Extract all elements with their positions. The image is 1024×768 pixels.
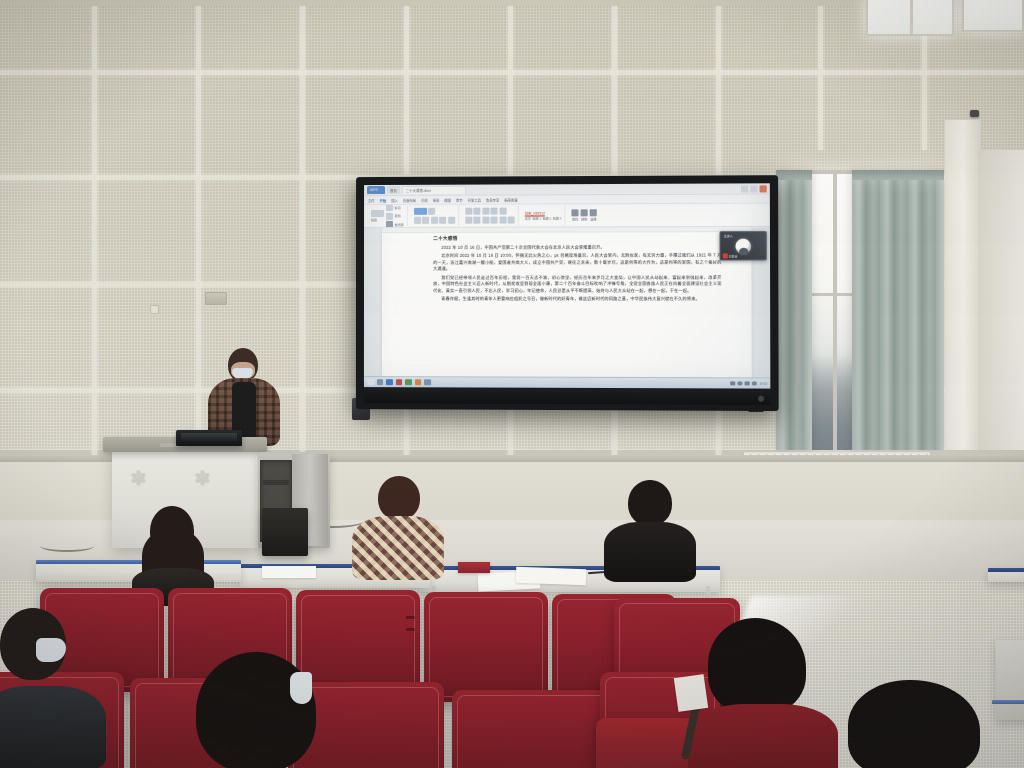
led-display[interactable]: WPS 首页 二十大感悟.docx 文件 开始 插入 页面布局 引用 审阅 (356, 175, 779, 411)
curtain-left (776, 170, 812, 450)
os-taskbar[interactable]: 10:02 (364, 376, 770, 389)
maximize-icon[interactable] (750, 185, 757, 192)
align-right-icon[interactable] (482, 216, 489, 223)
attendee-head (628, 480, 672, 526)
lectern-decoration (194, 470, 210, 486)
document-heading: 二十大感悟 (433, 235, 721, 242)
app-tab-document[interactable]: 二十大感悟.docx (402, 186, 466, 194)
ribbon-group-font[interactable] (411, 206, 459, 226)
bold-icon[interactable] (414, 217, 421, 224)
taskbar-clock[interactable]: 10:02 (759, 381, 767, 385)
floor-speaker (262, 508, 308, 556)
window-mullion (910, 0, 913, 34)
close-icon[interactable] (760, 185, 767, 192)
attendee-7 (848, 680, 996, 768)
cut-label: 剪切 (395, 205, 401, 209)
ribbon-tab-view[interactable]: 视图 (444, 197, 451, 202)
ribbon-tab-file[interactable]: 文件 (368, 198, 375, 203)
ribbon-group-paragraph[interactable] (462, 205, 519, 225)
start-button-icon[interactable] (367, 379, 374, 386)
side-desk (996, 640, 1024, 720)
ribbon-tab-insert[interactable]: 插入 (391, 197, 398, 202)
lecture-hall-photo: WPS 首页 二十大感悟.docx 文件 开始 插入 页面布局 引用 审阅 (0, 0, 1024, 768)
bullets-icon[interactable] (465, 208, 472, 215)
face-mask (290, 672, 312, 704)
font-size-dropdown[interactable] (428, 208, 435, 215)
clerestory-window (962, 0, 1024, 32)
av-mixer (263, 468, 289, 475)
attendee-jacket (604, 522, 696, 582)
ribbon-toolbar[interactable]: 粘贴 剪切 复制 格式刷 (364, 204, 770, 228)
document-page[interactable]: 二十大感悟 2022 年 10 月 16 日，中国共产党第二十次全国代表大会在北… (382, 227, 752, 377)
desk-edge-trim (988, 568, 1024, 572)
clerestory-window (866, 0, 954, 36)
select-label: 选择 (590, 218, 596, 222)
style-h2-label[interactable]: 标题 2 (543, 217, 552, 221)
titlebar-spacer (468, 189, 739, 190)
panel-joint (818, 0, 823, 150)
replace-label: 替换 (581, 218, 587, 222)
attendee-2 (352, 476, 444, 580)
attendee-head (848, 680, 980, 768)
style-body-label[interactable]: 正文 (525, 217, 531, 221)
seat-vent (406, 616, 415, 619)
lectern-decoration (130, 470, 146, 486)
attendee-6 (702, 618, 830, 768)
find-label: 查找 (572, 218, 578, 222)
handheld-paper (674, 674, 708, 712)
format-painter-icon[interactable] (386, 221, 393, 228)
lectern-laptop[interactable] (176, 430, 242, 446)
align-center-icon[interactable] (473, 216, 480, 223)
select-icon[interactable] (590, 209, 597, 216)
attendee-head (378, 476, 420, 520)
seat-piping (457, 695, 619, 768)
shading-icon[interactable] (508, 216, 515, 223)
desk-paper (262, 566, 316, 578)
auditorium-seat[interactable] (424, 592, 548, 702)
attendee-sweater (352, 516, 444, 580)
justify-icon[interactable] (490, 216, 497, 223)
wall-vent (205, 292, 227, 305)
network-icon[interactable] (731, 381, 736, 386)
mic-status-label: 已静音 (729, 254, 738, 258)
document-paragraph: 青春作赋，生逢其时的青年人更要响应组织之号召，做新时代的好青年，做这迈新时代的同… (433, 296, 722, 303)
font-color-icon[interactable] (448, 216, 455, 223)
ribbon-tab-review[interactable]: 审阅 (433, 197, 440, 202)
paste-icon[interactable] (371, 210, 384, 217)
font-name-dropdown[interactable] (414, 208, 427, 215)
wall-socket (150, 305, 159, 314)
avatar (735, 239, 750, 254)
attendee-3 (604, 480, 696, 582)
underline-icon[interactable] (431, 217, 438, 224)
italic-icon[interactable] (422, 217, 429, 224)
ribbon-tab-page-layout[interactable]: 页面布局 (403, 197, 416, 202)
copy-icon[interactable] (386, 212, 393, 219)
window-assembly (788, 170, 938, 450)
align-left-icon[interactable] (465, 216, 472, 223)
wall-pilaster (978, 150, 1024, 450)
ribbon-tab-home[interactable]: 开始 (380, 197, 387, 202)
copy-label: 复制 (395, 214, 401, 218)
settings-icon[interactable] (424, 379, 431, 386)
style-h3-label[interactable]: 标题 3 (553, 217, 562, 221)
seat-backrest (424, 592, 548, 702)
attendee-clothing (0, 686, 106, 768)
seat-piping (429, 597, 543, 697)
attendee-clothing (688, 704, 838, 768)
window-mullion (833, 170, 837, 450)
ribbon-tab-developer[interactable]: 开发工具 (468, 197, 481, 202)
desk-booklet (458, 562, 490, 573)
curtain-header (776, 170, 812, 180)
document-text-body[interactable]: 二十大感悟 2022 年 10 月 16 日，中国共产党第二十次全国代表大会在北… (433, 235, 722, 304)
curtain-header (852, 170, 944, 180)
browser-icon[interactable] (386, 379, 393, 386)
ribbon-tab-resources[interactable]: 稻壳资源 (504, 197, 517, 202)
wps-writer-icon[interactable] (395, 379, 402, 386)
office-application-window[interactable]: WPS 首页 二十大感悟.docx 文件 开始 插入 页面布局 引用 审阅 (364, 183, 770, 388)
attendee-5-mask (290, 660, 330, 722)
display-screen[interactable]: WPS 首页 二十大感悟.docx 文件 开始 插入 页面布局 引用 审阅 (364, 183, 770, 388)
document-paragraph: 我们党已经带领人民走过百年历程，我党一百天志不渝，初心弥坚，经历百年来岁月之大变… (433, 274, 722, 294)
multilevel-list-icon[interactable] (482, 208, 489, 215)
ribbon-tab-member[interactable]: 会员专享 (486, 197, 499, 202)
find-icon[interactable] (571, 209, 578, 216)
file-explorer-icon[interactable] (376, 379, 383, 386)
replace-icon[interactable] (581, 209, 588, 216)
app-brand-tab[interactable]: WPS (367, 186, 385, 194)
seat-vent (406, 628, 415, 631)
video-call-pip[interactable]: 主讲人 已静音 (720, 231, 767, 261)
document-paragraph: 2022 年 10 月 16 日，中国共产党第二十次全国代表大会在北京人民大会堂… (433, 244, 721, 251)
app-tab-home[interactable]: 首页 (387, 186, 400, 194)
ribbon-tab-references[interactable]: 引用 (421, 197, 428, 202)
ribbon-tab-section[interactable]: 章节 (456, 197, 463, 202)
video-meeting-icon[interactable] (405, 379, 412, 386)
document-canvas[interactable]: 二十大感悟 2022 年 10 月 16 日，中国共产党第二十次全国代表大会在北… (364, 227, 770, 377)
panel-joint (300, 0, 305, 520)
participant-name: 主讲人 (724, 234, 733, 238)
document-ruler[interactable] (382, 227, 751, 233)
notification-icon[interactable] (752, 381, 757, 386)
display-brand-logo (758, 396, 764, 402)
strikethrough-icon[interactable] (439, 217, 446, 224)
desk-edge-trim (992, 700, 1024, 704)
document-paragraph: 北京时间 2022 年 10 月 16 日 10:00，怀揣无比火热之心，με … (433, 253, 721, 273)
av-device (263, 480, 289, 485)
volume-icon[interactable] (738, 381, 743, 386)
line-spacing-icon[interactable] (499, 216, 506, 223)
desk-paper (516, 567, 587, 585)
cut-icon[interactable] (386, 204, 393, 211)
media-player-icon[interactable] (415, 379, 422, 386)
format-painter-label: 格式刷 (395, 222, 404, 226)
style-font-name: 仿宋_GB2312 (525, 210, 562, 215)
system-tray[interactable]: 10:02 (731, 381, 768, 386)
input-method-icon[interactable] (745, 381, 750, 386)
ribbon-group-styles[interactable]: 仿宋_GB2312 正文 标题 1 标题 2 标题 3 (522, 205, 566, 225)
increase-indent-icon[interactable] (499, 208, 506, 215)
style-h1-label[interactable]: 标题 1 (532, 217, 541, 221)
paste-label: 粘贴 (371, 218, 384, 222)
wall-camera-icon (970, 110, 979, 117)
wall-pilaster (945, 120, 981, 450)
numbering-icon[interactable] (473, 208, 480, 215)
curtain-right (852, 170, 944, 450)
ribbon-group-editing[interactable]: 查找 替换 选择 (568, 205, 600, 225)
panel-joint (92, 0, 97, 520)
attendee-head (708, 618, 806, 714)
mic-muted-icon[interactable] (723, 253, 728, 258)
ribbon-group-clipboard[interactable]: 粘贴 剪切 复制 格式刷 (368, 206, 408, 226)
floor-cable (40, 540, 94, 552)
decrease-indent-icon[interactable] (490, 208, 497, 215)
minimize-icon[interactable] (741, 185, 748, 192)
attendee-4 (0, 600, 110, 768)
display-bezel-bottom (364, 388, 770, 405)
